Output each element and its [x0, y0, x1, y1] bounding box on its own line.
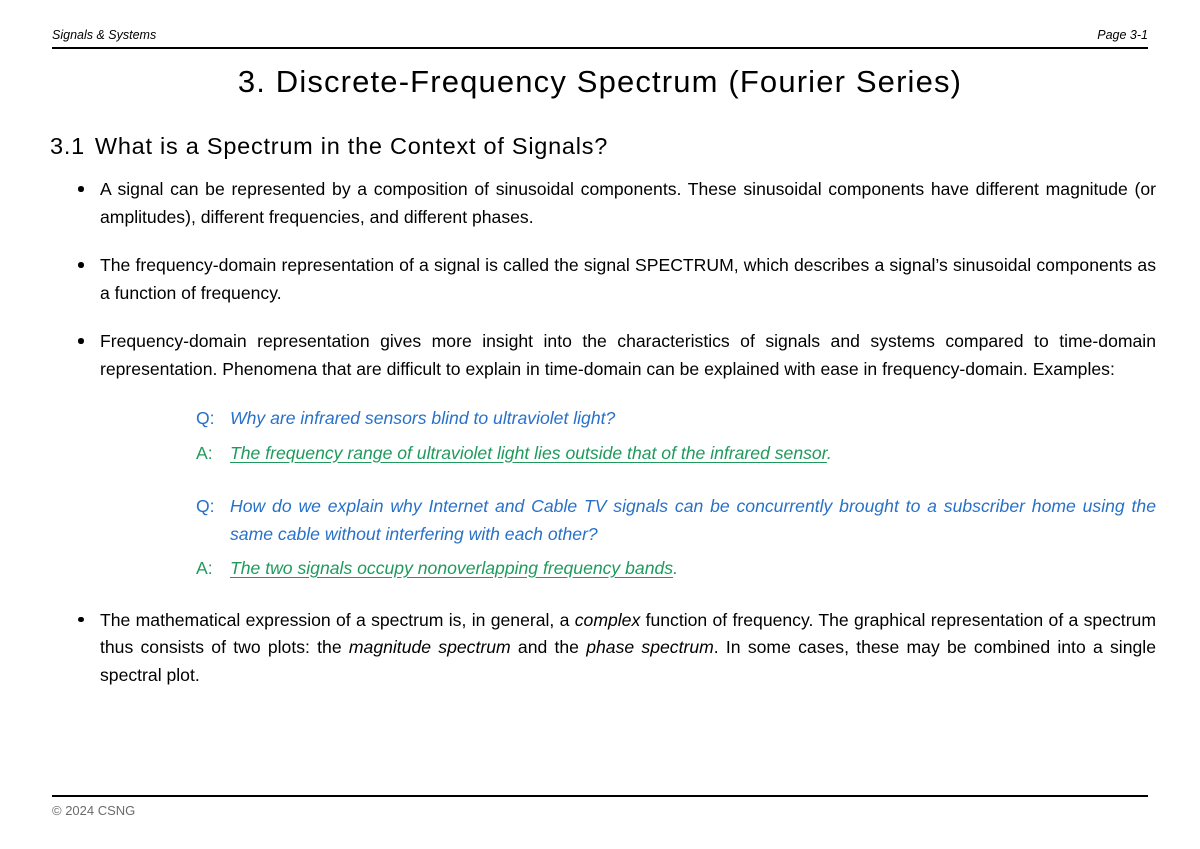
- bullet-dot-icon: [78, 338, 84, 344]
- qa-answer-text-infrared: The frequency range of ultraviolet light…: [230, 440, 1156, 468]
- qa-question-label: Q:: [196, 405, 230, 433]
- document-page: Signals & Systems Page 3-1 3. Discrete-F…: [0, 0, 1200, 849]
- qa-group-infrared: Q: Why are infrared sensors blind to ult…: [196, 405, 1156, 467]
- bullet-item-spectrum-definition: The frequency-domain representation of a…: [52, 252, 1156, 307]
- footer-divider-rule: [52, 795, 1148, 797]
- bullet-list: A signal can be represented by a composi…: [52, 176, 1156, 689]
- bullet-dot-icon: [78, 617, 84, 623]
- section-heading: 3.1What is a Spectrum in the Context of …: [50, 131, 608, 161]
- page-content: A signal can be represented by a composi…: [52, 176, 1156, 689]
- qa-answer-row-infrared: A: The frequency range of ultraviolet li…: [196, 440, 1156, 468]
- qa-question-text-infrared: Why are infrared sensors blind to ultrav…: [230, 405, 1156, 433]
- header-divider-rule: [52, 47, 1148, 49]
- footer-copyright: © 2024 CSNG: [52, 802, 135, 820]
- header-page-number: Page 3-1: [1097, 28, 1148, 42]
- page-title: 3. Discrete-Frequency Spectrum (Fourier …: [52, 62, 1148, 102]
- qa-question-text-cable-tv: How do we explain why Internet and Cable…: [230, 493, 1156, 548]
- bullet-dot-icon: [78, 186, 84, 192]
- qa-question-row-cable-tv: Q: How do we explain why Internet and Ca…: [196, 493, 1156, 548]
- bullet-text-insight: Frequency-domain representation gives mo…: [100, 328, 1156, 383]
- section-heading-text: What is a Spectrum in the Context of Sig…: [95, 133, 608, 159]
- bullet-text-spectrum-definition: The frequency-domain representation of a…: [100, 252, 1156, 307]
- qa-question-label: Q:: [196, 493, 230, 521]
- qa-answer-period-cable-tv: .: [673, 558, 678, 578]
- bullet-text-composition: A signal can be represented by a composi…: [100, 176, 1156, 231]
- qa-answer-underlined-cable-tv: The two signals occupy nonoverlapping fr…: [230, 558, 673, 578]
- qa-examples-block: Q: Why are infrared sensors blind to ult…: [100, 405, 1156, 583]
- bullet-item-composition: A signal can be represented by a composi…: [52, 176, 1156, 231]
- qa-answer-label: A:: [196, 555, 230, 583]
- qa-answer-underlined-infrared: The frequency range of ultraviolet light…: [230, 443, 827, 463]
- section-number: 3.1: [50, 133, 85, 159]
- qa-answer-row-cable-tv: A: The two signals occupy nonoverlapping…: [196, 555, 1156, 583]
- qa-answer-text-cable-tv: The two signals occupy nonoverlapping fr…: [230, 555, 1156, 583]
- qa-group-cable-tv: Q: How do we explain why Internet and Ca…: [196, 493, 1156, 583]
- qa-question-row-infrared: Q: Why are infrared sensors blind to ult…: [196, 405, 1156, 433]
- final-bullet-em-phase-spectrum: phase spectrum: [586, 637, 714, 657]
- qa-answer-period-infrared: .: [827, 443, 832, 463]
- qa-answer-label: A:: [196, 440, 230, 468]
- bullet-dot-icon: [78, 262, 84, 268]
- bullet-item-insight: Frequency-domain representation gives mo…: [52, 328, 1156, 583]
- final-bullet-em-magnitude-spectrum: magnitude spectrum: [349, 637, 511, 657]
- header-course-title: Signals & Systems: [52, 28, 156, 42]
- bullet-text-complex-function: The mathematical expression of a spectru…: [100, 607, 1156, 690]
- final-bullet-part3: and the: [511, 637, 587, 657]
- final-bullet-em-complex: complex: [575, 610, 641, 630]
- final-bullet-part1: The mathematical expression of a spectru…: [100, 610, 575, 630]
- bullet-item-complex-function: The mathematical expression of a spectru…: [52, 607, 1156, 690]
